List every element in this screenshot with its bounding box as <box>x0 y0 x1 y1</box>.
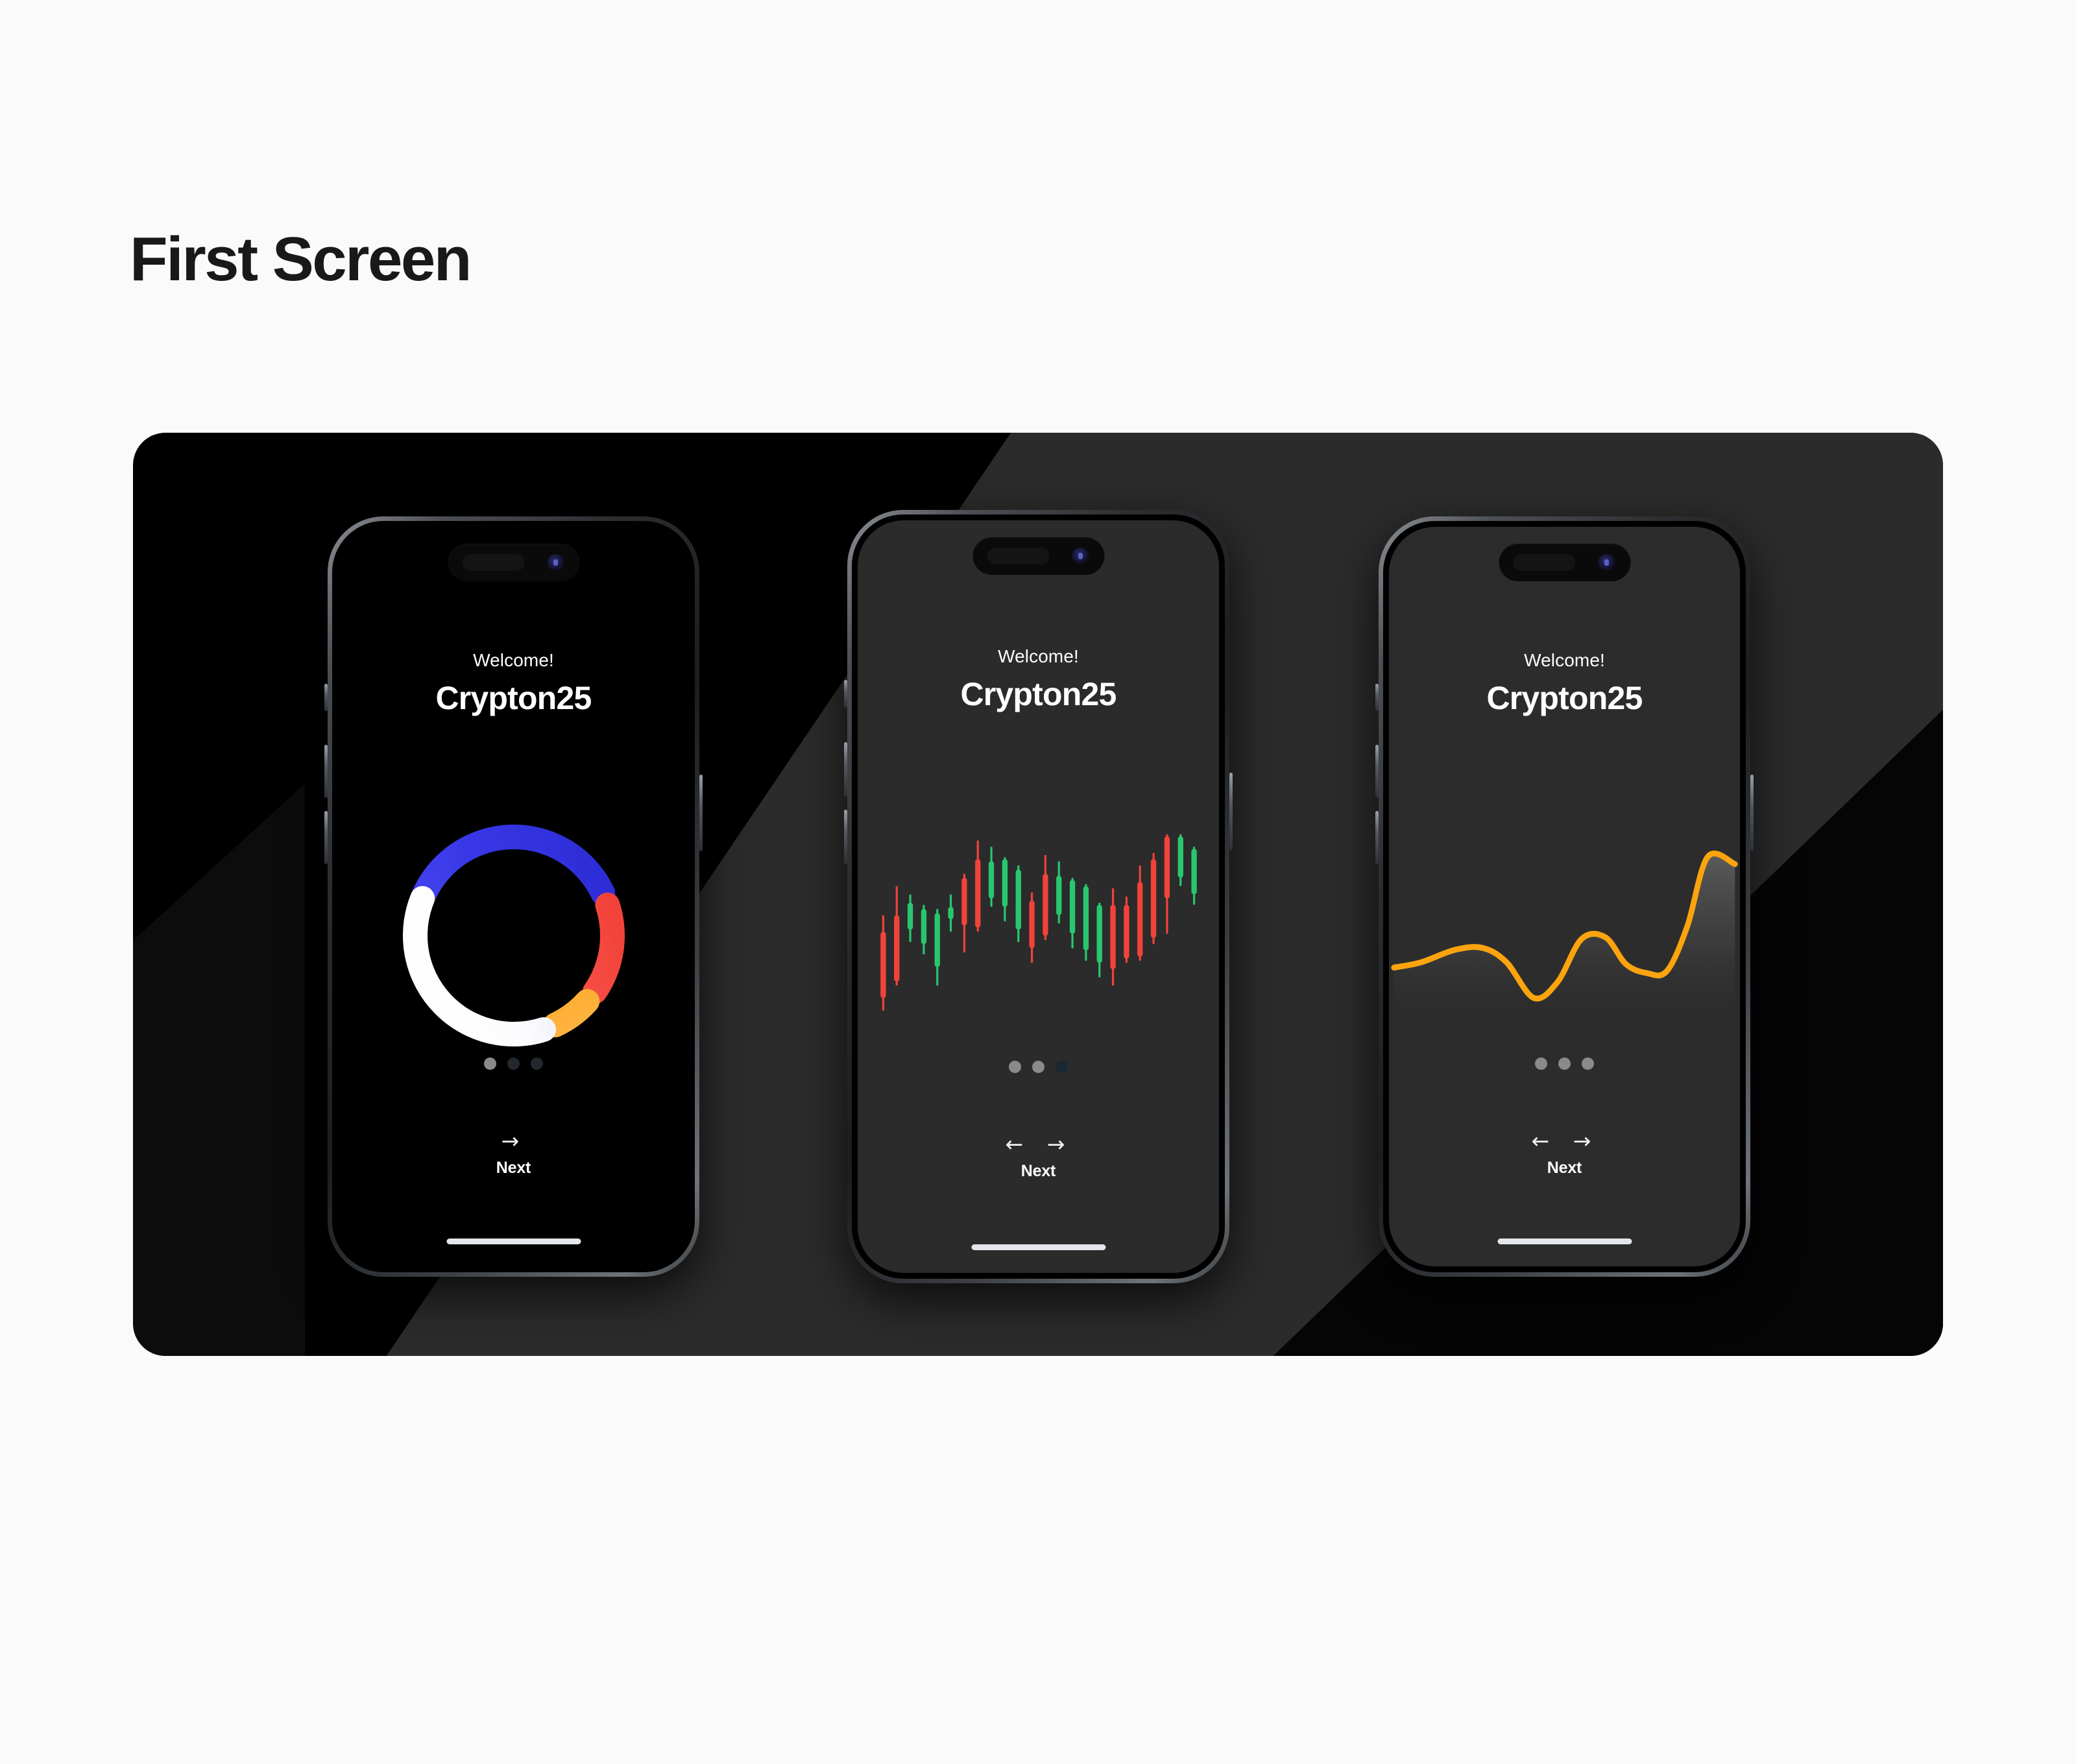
volume-up-button[interactable] <box>1375 745 1379 798</box>
next-label-3[interactable]: Next <box>1389 1159 1740 1178</box>
phone-mockup-1: Welcome! Crypton25 <box>328 516 699 1277</box>
next-button-1[interactable]: → Next <box>338 1130 689 1178</box>
arrow-right-icon[interactable]: → <box>338 1130 689 1152</box>
next-button-2[interactable]: ← → Next <box>858 1133 1219 1181</box>
dot-2[interactable] <box>1558 1057 1571 1070</box>
showcase-panel: Welcome! Crypton25 <box>133 433 1943 1356</box>
phone-bezel-2: Welcome! Crypton25 ← → Next <box>852 514 1225 1279</box>
welcome-text-2: Welcome! <box>858 646 1219 667</box>
arrow-left-right-icon[interactable]: ← → <box>1389 1130 1740 1152</box>
volume-down-button[interactable] <box>844 810 847 864</box>
phone-screen-2: Welcome! Crypton25 ← → Next <box>858 520 1219 1273</box>
speaker-icon <box>1513 554 1575 571</box>
pagination-dots-1[interactable] <box>338 1057 689 1070</box>
dot-3[interactable] <box>1582 1057 1594 1070</box>
dot-2[interactable] <box>507 1057 520 1070</box>
page-title: First Screen <box>130 228 470 291</box>
arrow-left-right-icon[interactable]: ← → <box>858 1133 1219 1155</box>
home-indicator-3 <box>1497 1238 1632 1244</box>
speaker-icon <box>987 548 1049 564</box>
mute-switch-button[interactable] <box>1375 684 1379 711</box>
home-indicator-2 <box>971 1244 1105 1250</box>
dot-2[interactable] <box>1032 1061 1044 1073</box>
home-indicator-1 <box>446 1238 581 1244</box>
next-label-1[interactable]: Next <box>338 1159 689 1178</box>
brand-title-1: Crypton25 <box>338 679 689 717</box>
phone-bezel-1: Welcome! Crypton25 <box>332 521 695 1272</box>
mute-switch-button[interactable] <box>844 680 847 708</box>
phone-bezel-3: Welcome! Crypton25 <box>1383 521 1746 1272</box>
mute-switch-button[interactable] <box>324 684 328 711</box>
next-label-2[interactable]: Next <box>858 1162 1219 1181</box>
volume-down-button[interactable] <box>324 811 328 864</box>
front-camera-icon <box>547 554 564 571</box>
pagination-dots-3[interactable] <box>1389 1057 1740 1070</box>
dot-1[interactable] <box>1009 1061 1021 1073</box>
volume-up-button[interactable] <box>324 745 328 798</box>
power-button[interactable] <box>699 775 703 851</box>
phone-screen-1: Welcome! Crypton25 <box>338 527 689 1266</box>
donut-chart <box>384 806 644 1065</box>
pagination-dots-2[interactable] <box>858 1061 1219 1073</box>
front-camera-icon <box>1072 548 1089 564</box>
dot-3[interactable] <box>1056 1061 1068 1073</box>
speaker-icon <box>462 554 524 571</box>
phone-screen-3: Welcome! Crypton25 <box>1389 527 1740 1266</box>
dot-3[interactable] <box>531 1057 543 1070</box>
power-button[interactable] <box>1750 775 1754 851</box>
brand-title-3: Crypton25 <box>1389 679 1740 717</box>
dynamic-island <box>448 544 579 581</box>
power-button[interactable] <box>1229 773 1233 851</box>
welcome-text-1: Welcome! <box>338 650 689 671</box>
volume-down-button[interactable] <box>1375 811 1379 864</box>
front-camera-icon <box>1598 554 1615 571</box>
dynamic-island <box>1499 544 1630 581</box>
area-line-chart <box>1389 793 1740 1026</box>
phone-mockup-3: Welcome! Crypton25 <box>1379 516 1750 1277</box>
welcome-text-3: Welcome! <box>1389 650 1740 671</box>
dot-1[interactable] <box>1535 1057 1547 1070</box>
brand-title-2: Crypton25 <box>858 675 1219 713</box>
volume-up-button[interactable] <box>844 742 847 797</box>
candlestick-chart <box>876 816 1201 1023</box>
dynamic-island <box>972 537 1104 575</box>
next-button-3[interactable]: ← → Next <box>1389 1130 1740 1178</box>
phone-mockup-2: Welcome! Crypton25 ← → Next <box>847 510 1229 1283</box>
dot-1[interactable] <box>484 1057 496 1070</box>
